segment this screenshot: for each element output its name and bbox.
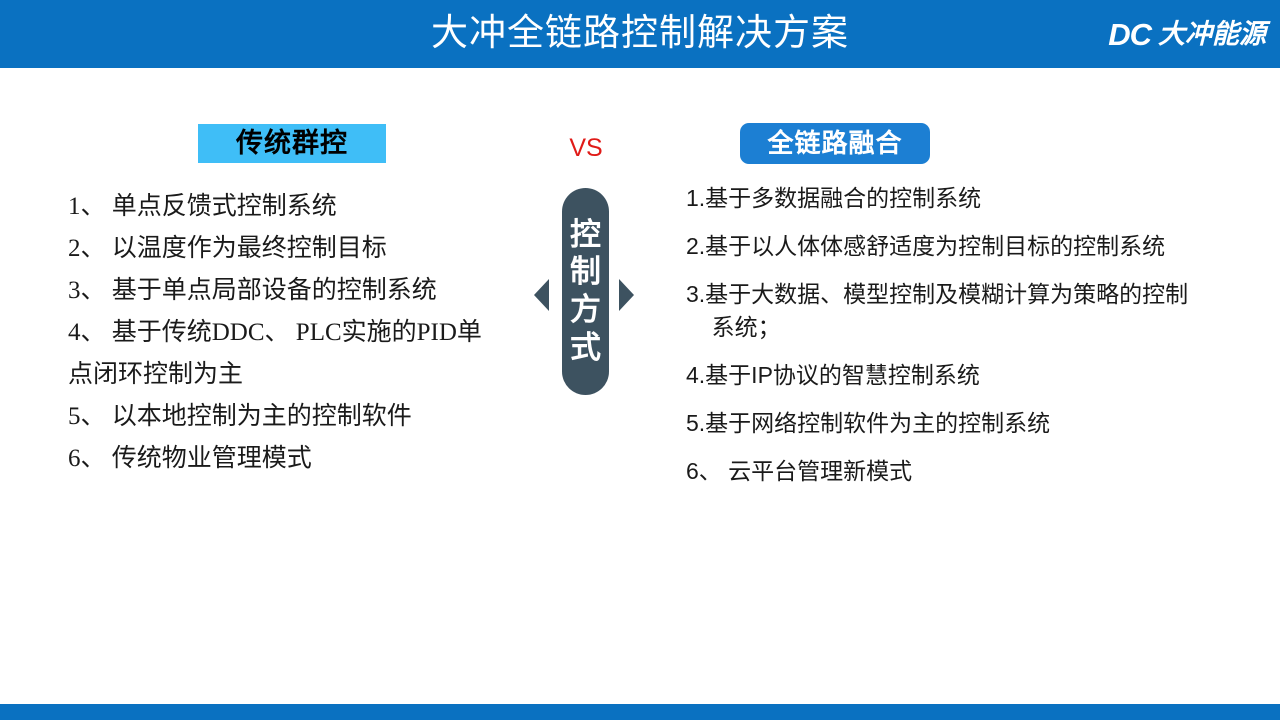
footer-bar — [0, 704, 1280, 720]
list-item: 1.基于多数据融合的控制系统 — [686, 182, 1280, 215]
arrow-right-icon — [619, 279, 634, 311]
pill-char: 方 — [570, 292, 601, 329]
list-item: 1、 单点反馈式控制系统 — [68, 186, 538, 228]
arrow-left-icon — [534, 279, 549, 311]
brand-logo: DC 大冲能源 — [1108, 13, 1266, 55]
left-column-list: 1、 单点反馈式控制系统 2、 以温度作为最终控制目标 3、 基于单点局部设备的… — [68, 186, 538, 480]
list-item: 3、 基于单点局部设备的控制系统 — [68, 270, 538, 312]
right-column-heading: 全链路融合 — [740, 123, 930, 164]
left-column-heading: 传统群控 — [198, 124, 386, 163]
list-item: 3.基于大数据、模型控制及模糊计算为策略的控制 系统； — [686, 278, 1280, 344]
list-item: 6、 传统物业管理模式 — [68, 438, 538, 480]
logo-dc-mark: DC — [1108, 19, 1151, 50]
list-item: 5.基于网络控制软件为主的控制系统 — [686, 407, 1280, 440]
right-column-list: 1.基于多数据融合的控制系统 2.基于以人体体感舒适度为控制目标的控制系统 3.… — [686, 182, 1280, 503]
pill-char: 控 — [570, 217, 601, 254]
vs-label: VS — [528, 136, 644, 161]
list-item: 6、 云平台管理新模式 — [686, 455, 1280, 488]
logo-company-name: 大冲能源 — [1158, 21, 1266, 48]
page-title: 大冲全链路控制解决方案 — [0, 0, 1280, 68]
list-item: 2.基于以人体体感舒适度为控制目标的控制系统 — [686, 230, 1280, 263]
pill-char: 制 — [570, 254, 601, 291]
list-item: 4.基于IP协议的智慧控制系统 — [686, 359, 1280, 392]
header-banner: 大冲全链路控制解决方案 DC 大冲能源 — [0, 0, 1280, 68]
comparison-divider: 控 制 方 式 — [525, 188, 647, 400]
control-method-pill: 控 制 方 式 — [562, 188, 609, 395]
pill-char: 式 — [570, 330, 601, 367]
list-item: 5、 以本地控制为主的控制软件 — [68, 396, 538, 438]
list-item: 2、 以温度作为最终控制目标 — [68, 228, 538, 270]
list-item: 4、 基于传统DDC、 PLC实施的PID单 点闭环控制为主 — [68, 312, 538, 396]
